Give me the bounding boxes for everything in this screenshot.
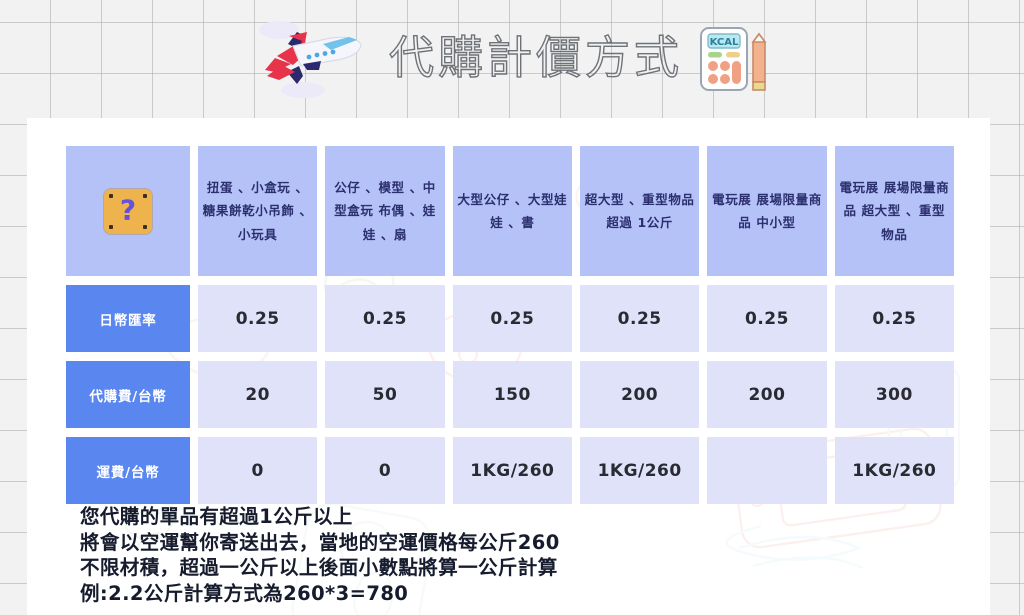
- page-title: 代購計價方式: [389, 35, 683, 84]
- column-header-1: 扭蛋 、小盒玩 、糖果餅乾小吊飾 、小玩具: [198, 146, 317, 276]
- column-header-5: 電玩展 展場限量商品 中小型: [707, 146, 826, 276]
- cell-r0-c2: 0.25: [453, 285, 572, 352]
- cell-r1-c1: 50: [325, 361, 444, 428]
- header-cell-icon: ?: [66, 146, 190, 276]
- cell-r1-c3: 200: [580, 361, 699, 428]
- cell-r2-c4: [707, 437, 826, 504]
- cell-r0-c3: 0.25: [580, 285, 699, 352]
- cell-r2-c0: 0: [198, 437, 317, 504]
- cell-r0-c0: 0.25: [198, 285, 317, 352]
- row-label-shipping-fee: 運費/台幣: [66, 437, 190, 504]
- cell-r0-c4: 0.25: [707, 285, 826, 352]
- cell-r1-c0: 20: [198, 361, 317, 428]
- row-label-service-fee: 代購費/台幣: [66, 361, 190, 428]
- table-row: 運費/台幣 0 0 1KG/260 1KG/260 1KG/260: [66, 437, 954, 504]
- cell-r1-c2: 150: [453, 361, 572, 428]
- note-line-1: 您代購的單品有超過1公斤以上: [80, 504, 910, 530]
- cell-r2-c3: 1KG/260: [580, 437, 699, 504]
- question-mark-glyph: ?: [104, 196, 152, 224]
- table-header-row: ? 扭蛋 、小盒玩 、糖果餅乾小吊飾 、小玩具 公仔 、模型 、中型盒玩 布偶 …: [66, 146, 954, 276]
- table-row: 日幣匯率 0.25 0.25 0.25 0.25 0.25 0.25: [66, 285, 954, 352]
- cell-r1-c4: 200: [707, 361, 826, 428]
- cell-r0-c5: 0.25: [835, 285, 954, 352]
- table-row: 代購費/台幣 20 50 150 200 200 300: [66, 361, 954, 428]
- cell-r1-c5: 300: [835, 361, 954, 428]
- column-header-4: 超大型 、重型物品 超過 1公斤: [580, 146, 699, 276]
- cell-r2-c1: 0: [325, 437, 444, 504]
- note-line-4: 例:2.2公斤計算方式為260*3=780: [80, 581, 910, 607]
- note-line-3: 不限材積，超過一公斤以上後面小數點將算一公斤計算: [80, 555, 910, 581]
- column-header-6: 電玩展 展場限量商品 超大型 、重型物品: [835, 146, 954, 276]
- airplane-icon: [245, 20, 375, 98]
- page-header: 代購計價方式 KCAL: [0, 0, 1024, 118]
- pricing-table: ? 扭蛋 、小盒玩 、糖果餅乾小吊飾 、小玩具 公仔 、模型 、中型盒玩 布偶 …: [58, 137, 962, 513]
- notes-block: 您代購的單品有超過1公斤以上 將會以空運幫你寄送出去，當地的空運價格每公斤260…: [80, 504, 910, 606]
- cell-r2-c5: 1KG/260: [835, 437, 954, 504]
- pricing-card: ? 扭蛋 、小盒玩 、糖果餅乾小吊飾 、小玩具 公仔 、模型 、中型盒玩 布偶 …: [27, 118, 990, 615]
- question-block-icon: ?: [104, 189, 152, 234]
- svg-text:KCAL: KCAL: [710, 37, 739, 48]
- cell-r2-c2: 1KG/260: [453, 437, 572, 504]
- calculator-pencil-icon: KCAL: [697, 20, 779, 98]
- cell-r0-c1: 0.25: [325, 285, 444, 352]
- row-label-exchange-rate: 日幣匯率: [66, 285, 190, 352]
- note-line-2: 將會以空運幫你寄送出去，當地的空運價格每公斤260: [80, 530, 910, 556]
- column-header-2: 公仔 、模型 、中型盒玩 布偶 、娃娃 、扇: [325, 146, 444, 276]
- column-header-3: 大型公仔 、大型娃娃 、書: [453, 146, 572, 276]
